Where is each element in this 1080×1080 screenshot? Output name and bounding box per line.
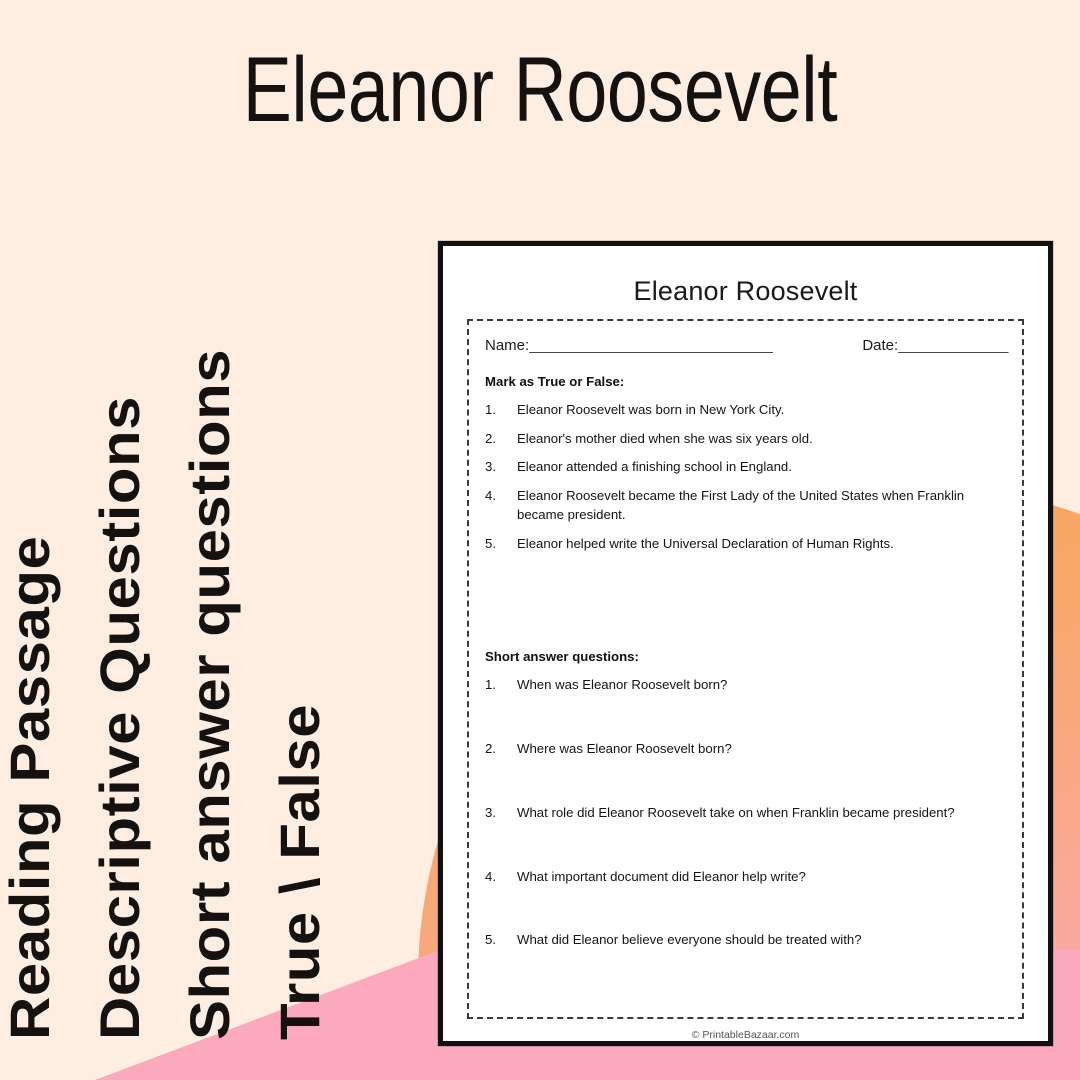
short-answer-list: 1. When was Eleanor Roosevelt born? 2. W… bbox=[479, 676, 1012, 950]
item-number: 5. bbox=[485, 931, 517, 950]
list-item: 2. Eleanor's mother died when she was si… bbox=[485, 430, 1006, 449]
item-text: Eleanor attended a finishing school in E… bbox=[517, 458, 982, 477]
item-text: Eleanor Roosevelt was born in New York C… bbox=[517, 401, 982, 420]
list-item: 5. Eleanor helped write the Universal De… bbox=[485, 535, 1006, 554]
true-false-list: 1. Eleanor Roosevelt was born in New Yor… bbox=[479, 401, 1012, 553]
worksheet-title: Eleanor Roosevelt bbox=[467, 276, 1024, 307]
feature-label-group: Reading Passage Descriptive Questions Sh… bbox=[0, 0, 420, 1080]
item-text: Where was Eleanor Roosevelt born? bbox=[517, 740, 982, 759]
name-label: Name: bbox=[485, 337, 529, 354]
worksheet-page: Eleanor Roosevelt Name:_________________… bbox=[438, 241, 1053, 1046]
item-text: What role did Eleanor Roosevelt take on … bbox=[517, 804, 982, 823]
short-answer-heading: Short answer questions: bbox=[485, 649, 1012, 664]
list-item: 1. Eleanor Roosevelt was born in New Yor… bbox=[485, 401, 1006, 420]
item-number: 2. bbox=[485, 740, 517, 759]
worksheet-dashed-container: Name:_______________________________ Dat… bbox=[467, 319, 1024, 1019]
worksheet-credit: © PrintableBazaar.com bbox=[467, 1019, 1024, 1041]
list-item: 5. What did Eleanor believe everyone sho… bbox=[485, 931, 1006, 950]
list-item: 4. Eleanor Roosevelt became the First La… bbox=[485, 487, 1006, 524]
feature-label-true-false: True \ False bbox=[268, 704, 332, 1040]
item-number: 1. bbox=[485, 401, 517, 420]
list-item: 3. Eleanor attended a finishing school i… bbox=[485, 458, 1006, 477]
answer-space-true-false bbox=[479, 563, 1012, 641]
item-number: 4. bbox=[485, 487, 517, 524]
item-number: 2. bbox=[485, 430, 517, 449]
feature-label-reading-passage: Reading Passage bbox=[0, 536, 62, 1040]
true-false-heading: Mark as True or False: bbox=[485, 374, 1012, 389]
name-input-blank[interactable]: _______________________________ bbox=[529, 337, 772, 354]
date-label: Date: bbox=[862, 337, 898, 354]
list-item: 2. Where was Eleanor Roosevelt born? bbox=[485, 740, 1006, 759]
item-text: When was Eleanor Roosevelt born? bbox=[517, 676, 982, 695]
list-item: 3. What role did Eleanor Roosevelt take … bbox=[485, 804, 1006, 823]
item-text: Eleanor helped write the Universal Decla… bbox=[517, 535, 982, 554]
list-item: 1. When was Eleanor Roosevelt born? bbox=[485, 676, 1006, 695]
item-number: 5. bbox=[485, 535, 517, 554]
list-item: 4. What important document did Eleanor h… bbox=[485, 868, 1006, 887]
name-field[interactable]: Name:_______________________________ bbox=[485, 337, 772, 354]
date-field[interactable]: Date:______________ bbox=[862, 337, 1008, 354]
item-text: What did Eleanor believe everyone should… bbox=[517, 931, 982, 950]
item-number: 3. bbox=[485, 458, 517, 477]
item-text: What important document did Eleanor help… bbox=[517, 868, 982, 887]
feature-label-descriptive-questions: Descriptive Questions bbox=[88, 396, 152, 1040]
name-date-row: Name:_______________________________ Dat… bbox=[479, 337, 1012, 354]
date-input-blank[interactable]: ______________ bbox=[898, 337, 1008, 354]
item-number: 1. bbox=[485, 676, 517, 695]
feature-label-short-answer-questions: Short answer questions bbox=[178, 349, 242, 1040]
item-number: 3. bbox=[485, 804, 517, 823]
item-text: Eleanor's mother died when she was six y… bbox=[517, 430, 982, 449]
item-text: Eleanor Roosevelt became the First Lady … bbox=[517, 487, 982, 524]
item-number: 4. bbox=[485, 868, 517, 887]
